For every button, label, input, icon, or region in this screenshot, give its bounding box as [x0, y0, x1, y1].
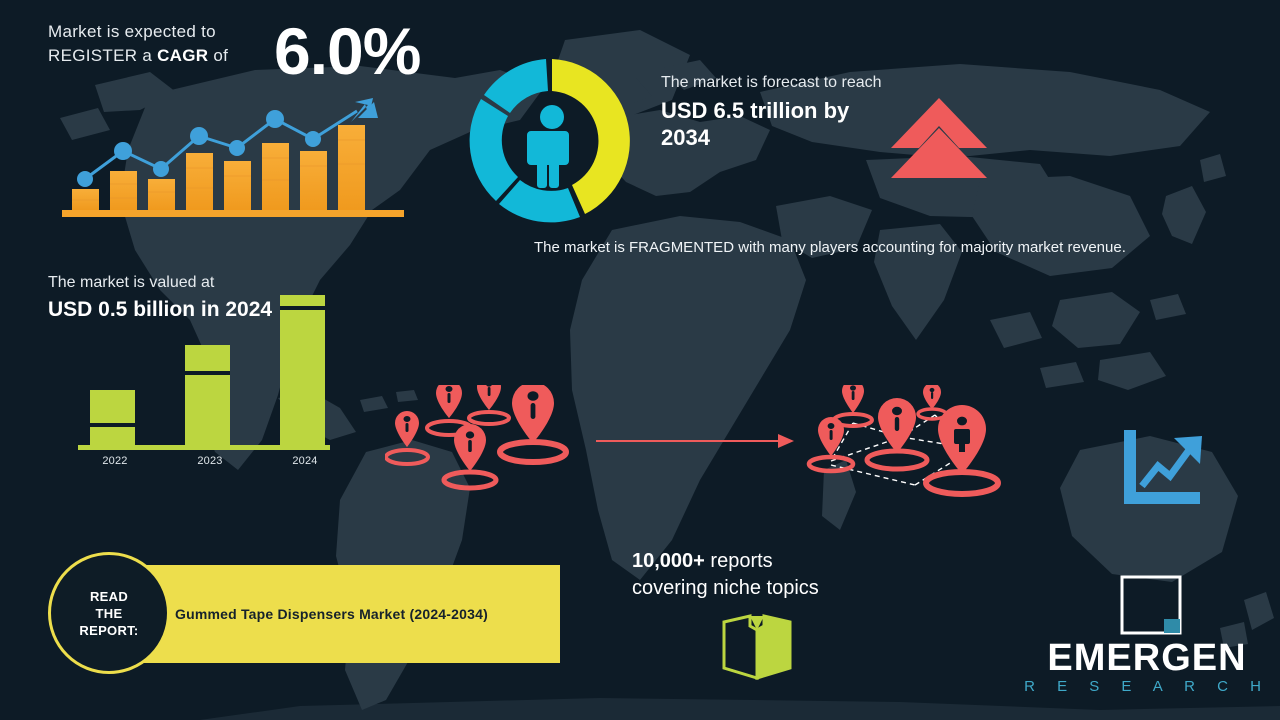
cagr-label: Market is expected to REGISTER a CAGR of: [48, 20, 228, 68]
read-report-line-1: READ: [90, 589, 128, 604]
bar-2024: [280, 295, 325, 445]
cagr-line2-post: of: [208, 46, 228, 65]
chart-baseline: [62, 210, 404, 217]
forecast-block: The market is forecast to reach USD 6.5 …: [661, 72, 901, 151]
read-report-line-2: THE: [96, 606, 123, 621]
read-report-label: READ THE REPORT:: [79, 588, 138, 639]
tick-2024: 2024: [275, 455, 335, 467]
growth-bar-chart: [62, 88, 412, 223]
cagr-keyword: CAGR: [157, 46, 208, 65]
consolidated-pins-network: [805, 385, 1005, 505]
open-book-icon: [720, 612, 794, 680]
logo-wordmark: EMERGEN: [1022, 637, 1272, 680]
read-report-line-3: REPORT:: [79, 623, 138, 638]
logo-subtitle: R E S E A R C H: [1022, 678, 1272, 695]
trend-arrow-icon: [1118, 428, 1208, 510]
reports-count-line: 10,000+ reports: [632, 548, 932, 575]
cagr-line2-pre: REGISTER a: [48, 46, 157, 65]
reports-count-value: 10,000+: [632, 550, 705, 572]
map-pin-person-icon: [500, 385, 566, 462]
market-share-donut: [462, 56, 642, 226]
tick-2023: 2023: [180, 455, 240, 467]
donut-segment-cyan-2: [470, 99, 518, 201]
market-value-label: The market is valued at: [48, 272, 298, 293]
fragmented-pins-cluster: [385, 385, 575, 495]
market-value-bar-chart: [78, 295, 338, 455]
report-cta-bar[interactable]: Gummed Tape Dispensers Market (2024-2034…: [105, 565, 560, 663]
cagr-line-2: REGISTER a CAGR of: [48, 44, 228, 68]
right-arrow-icon: [596, 430, 796, 452]
map-pin-person-icon: [918, 385, 946, 419]
person-in-donut-icon: [527, 105, 569, 188]
read-report-button[interactable]: READ THE REPORT:: [48, 552, 170, 674]
report-title: Gummed Tape Dispensers Market (2024-2034…: [175, 606, 488, 622]
cagr-value: 6.0%: [274, 18, 420, 84]
donut-segment-cyan-1: [484, 59, 548, 113]
bar-2022: [90, 390, 135, 445]
bar-2023: [185, 345, 230, 445]
forecast-value: USD 6.5 trillion by 2034: [661, 97, 901, 151]
reports-count-suffix: reports: [705, 550, 773, 572]
reports-subtitle: covering niche topics: [632, 575, 932, 602]
map-pin-person-icon: [867, 398, 927, 469]
reports-count-block: 10,000+ reports covering niche topics: [632, 548, 932, 602]
square-frame-icon: [1120, 575, 1182, 635]
green-chart-baseline: [78, 445, 330, 450]
tick-2022: 2022: [85, 455, 145, 467]
double-chevron-up-icon: [889, 96, 989, 180]
map-pin-person-icon: [386, 411, 428, 464]
map-pin-person-icon: [834, 385, 872, 426]
fragmented-market-text: The market is FRAGMENTED with many playe…: [534, 236, 1224, 259]
map-pin-person-icon: [469, 385, 509, 424]
growth-bars: [72, 125, 365, 210]
cagr-line-1: Market is expected to: [48, 20, 228, 44]
infographic-canvas: Market is expected to REGISTER a CAGR of…: [0, 0, 1280, 720]
forecast-label: The market is forecast to reach: [661, 72, 901, 93]
